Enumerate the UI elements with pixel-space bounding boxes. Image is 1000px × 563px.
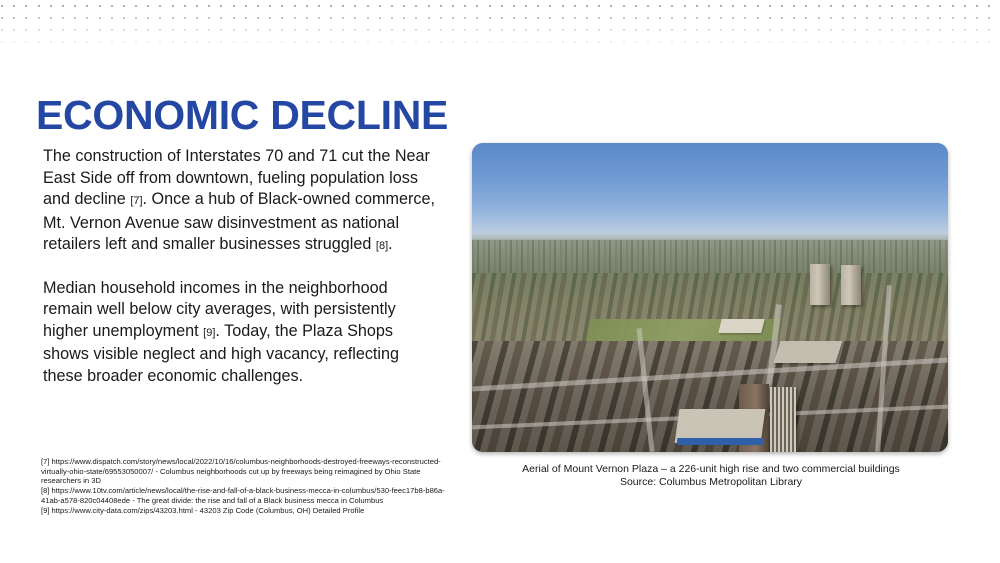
citation-marker-9: [9] <box>203 327 215 339</box>
paragraph-economic-history: The construction of Interstates 70 and 7… <box>43 146 435 258</box>
photo-caption: Aerial of Mount Vernon Plaza – a 226-uni… <box>465 463 957 489</box>
dot-row <box>0 15 1000 27</box>
citation-marker-8: [8] <box>376 240 388 252</box>
dot-row <box>0 27 1000 39</box>
footnote-item: [9] https://www.city-data.com/zips/43203… <box>41 506 451 516</box>
footnote-item: [8] https://www.10tv.com/article/news/lo… <box>41 486 451 505</box>
photo-commercial-roof <box>718 319 764 333</box>
aerial-photo <box>472 143 948 452</box>
photo-highrise-tower <box>841 265 861 305</box>
photo-sky <box>472 143 948 239</box>
photo-foreground-highrise <box>770 387 796 452</box>
slide: ECONOMIC DECLINE The construction of Int… <box>0 0 1000 563</box>
photo-blue-storefront <box>676 438 763 445</box>
caption-line-2: Source: Columbus Metropolitan Library <box>465 476 957 489</box>
caption-line-1: Aerial of Mount Vernon Plaza – a 226-uni… <box>465 463 957 476</box>
body-text-column: The construction of Interstates 70 and 7… <box>43 146 435 387</box>
paragraph-income-vacancy: Median household incomes in the neighbor… <box>43 278 435 388</box>
photo-canvas <box>472 143 948 452</box>
citation-marker-7: [7] <box>130 195 142 207</box>
dot-row <box>0 39 1000 51</box>
photo-highrise-tower <box>810 264 830 306</box>
decorative-dot-grid <box>0 0 1000 52</box>
footnote-list: [7] https://www.dispatch.com/story/news/… <box>41 457 451 516</box>
page-title: ECONOMIC DECLINE <box>36 93 448 138</box>
paragraph1-text-c: . <box>388 235 393 253</box>
footnote-item: [7] https://www.dispatch.com/story/news/… <box>41 457 451 486</box>
photo-commercial-roof <box>773 341 842 363</box>
dot-row <box>0 3 1000 15</box>
